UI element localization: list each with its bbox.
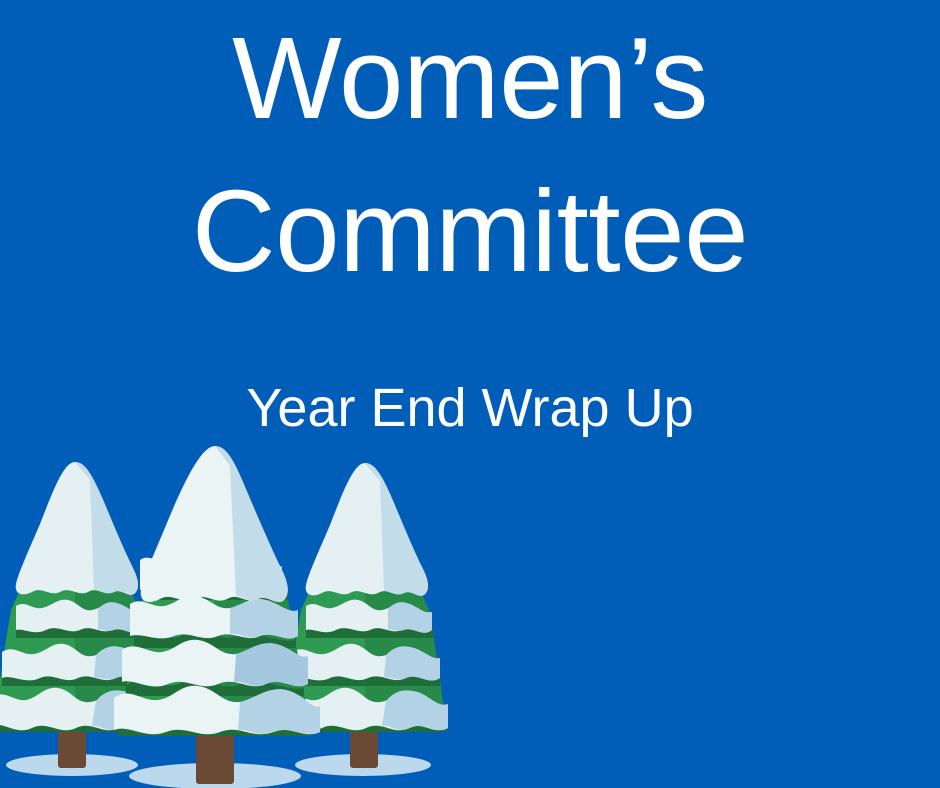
title-line-2: Committee: [0, 155, 940, 308]
snowy-pine-trees-illustration: [0, 440, 470, 788]
trees-svg: [0, 440, 470, 788]
page-title: Women’sCommittee: [0, 0, 940, 308]
title-line-1: Women’s: [0, 0, 940, 155]
title-group: Women’sCommittee Year End Wrap Up: [0, 0, 940, 441]
slide-canvas: Women’sCommittee Year End Wrap Up: [0, 0, 940, 788]
center-tree: [114, 446, 320, 784]
page-subtitle: Year End Wrap Up: [0, 308, 940, 441]
